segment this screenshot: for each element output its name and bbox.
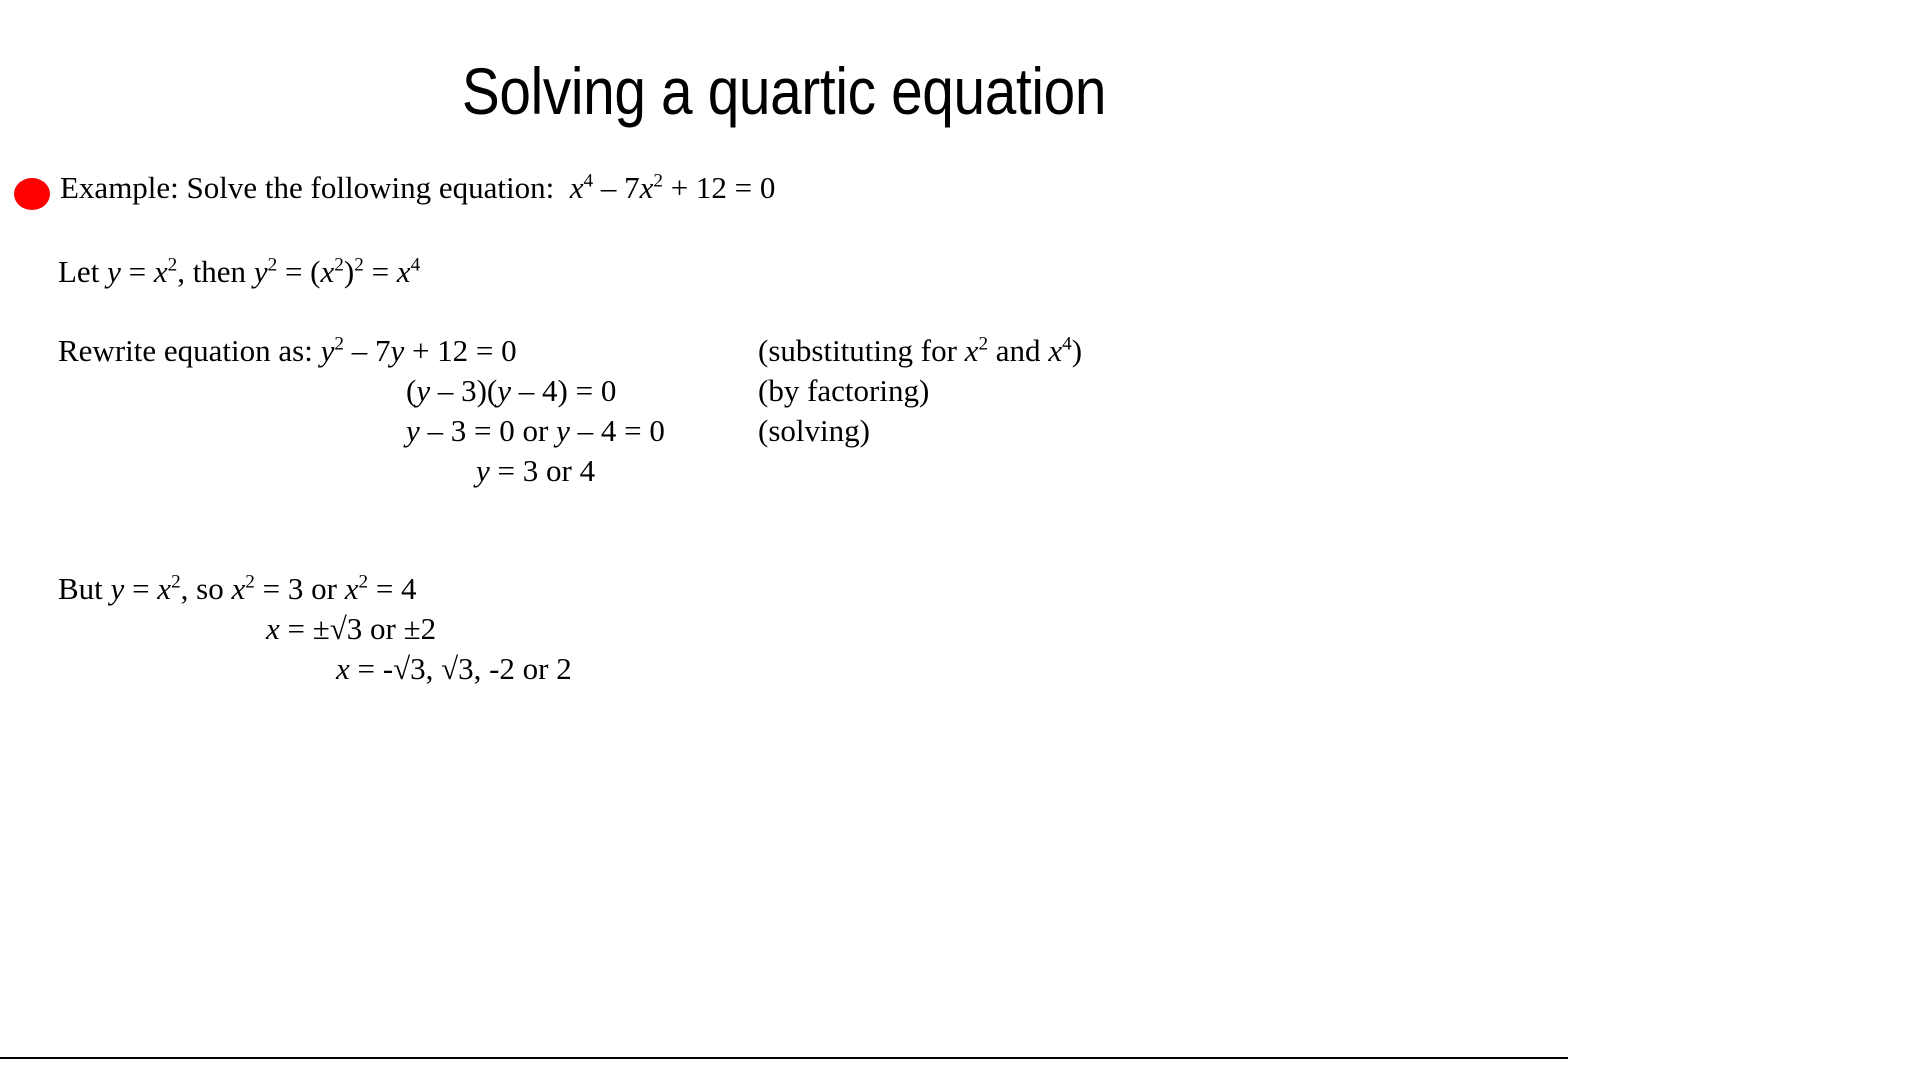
rewrite-exponent-2: 2 <box>334 334 344 355</box>
result-tail: = 3 or 4 <box>490 453 595 488</box>
bullet-circle-icon <box>14 178 50 210</box>
rewrite-line-4-expression: y = 3 or 4 <box>58 451 758 491</box>
but-prefix: But <box>58 571 111 606</box>
let-exponent-1: 2 <box>168 255 178 276</box>
rewrite-block: Rewrite equation as: y2 – 7y + 12 = 0 (s… <box>0 331 1568 491</box>
note-exponent-2: 2 <box>978 334 988 355</box>
bullet-item-text: Example: Solve the following equation: x… <box>60 166 1568 203</box>
let-variable-x2: x <box>321 254 335 289</box>
but-variable-x-2: x <box>232 571 246 606</box>
let-exponent-4: 2 <box>354 255 364 276</box>
equation-operator: – 7 <box>593 170 640 205</box>
solve-mid: – 3 = 0 or <box>420 413 556 448</box>
factor-variable-y-1: y <box>416 373 430 408</box>
but-line-1: But y = x2, so x2 = 3 or x2 = 4 <box>58 569 1568 609</box>
but-equals-2: = 3 or <box>255 571 345 606</box>
note-variable-x: x <box>965 333 979 368</box>
let-equals-1: = <box>121 254 154 289</box>
note-mid: and <box>988 333 1048 368</box>
rewrite-operator: – 7 <box>344 333 391 368</box>
equation-exponent-4: 4 <box>583 171 593 192</box>
let-exponent-2: 2 <box>268 255 278 276</box>
answer-variable-x-2: x <box>336 651 350 686</box>
rewrite-line-1-expression: Rewrite equation as: y2 – 7y + 12 = 0 <box>58 331 758 371</box>
let-mid: , then <box>177 254 254 289</box>
let-variable-y2: y <box>254 254 268 289</box>
but-exponent-1: 2 <box>171 572 181 593</box>
rewrite-line-2-note: (by factoring) <box>758 371 929 411</box>
solve-tail: – 4 = 0 <box>570 413 665 448</box>
equation-exponent-2: 2 <box>653 171 663 192</box>
bullet-list-item: Example: Solve the following equation: x… <box>0 166 1568 214</box>
rewrite-line-3-expression: y – 3 = 0 or y – 4 = 0 <box>58 411 758 451</box>
substitution-statement: Let y = x2, then y2 = (x2)2 = x4 <box>0 252 1568 291</box>
note-suffix: ) <box>1072 333 1082 368</box>
rewrite-variable-y: y <box>321 333 335 368</box>
let-equals-3: = <box>364 254 397 289</box>
let-variable-y: y <box>107 254 121 289</box>
result-variable-y: y <box>476 453 490 488</box>
but-variable-x-1: x <box>157 571 171 606</box>
but-exponent-2: 2 <box>245 572 255 593</box>
factor-mid: – 3)( <box>430 373 497 408</box>
spacer <box>0 214 1568 252</box>
spacer <box>0 291 1568 331</box>
note-prefix: (substituting for <box>758 333 965 368</box>
let-variable-x: x <box>154 254 168 289</box>
let-exponent-5: 4 <box>411 255 421 276</box>
rewrite-line-2-expression: (y – 3)(y – 4) = 0 <box>58 371 758 411</box>
slide-bottom-divider <box>0 1057 1568 1059</box>
rewrite-tail: + 12 = 0 <box>404 333 516 368</box>
let-equals-2: = ( <box>277 254 320 289</box>
but-tail: = 4 <box>368 571 416 606</box>
rewrite-line-1-note: (substituting for x2 and x4) <box>758 331 1082 371</box>
rewrite-line-3: y – 3 = 0 or y – 4 = 0 (solving) <box>58 411 1568 451</box>
back-substitution-block: But y = x2, so x2 = 3 or x2 = 4 x = ±√3 … <box>0 569 1568 689</box>
answer-tail-1: = ±√3 or ±2 <box>280 611 436 646</box>
slide-canvas: Solving a quartic equation Example: Solv… <box>0 0 1920 1080</box>
rewrite-line-4: y = 3 or 4 <box>58 451 1568 491</box>
spacer <box>0 491 1568 531</box>
factor-open-paren: ( <box>406 373 416 408</box>
let-prefix: Let <box>58 254 107 289</box>
slide-body: Example: Solve the following equation: x… <box>0 166 1568 689</box>
but-variable-y: y <box>111 571 125 606</box>
rewrite-line-2: (y – 3)(y – 4) = 0 (by factoring) <box>58 371 1568 411</box>
equation-variable-x: x <box>570 170 584 205</box>
let-variable-x3: x <box>397 254 411 289</box>
spacer <box>0 531 1568 569</box>
slide-title-container: Solving a quartic equation <box>0 58 1568 125</box>
factor-tail: – 4) = 0 <box>511 373 616 408</box>
rewrite-label: Rewrite equation as: <box>58 333 321 368</box>
page-title: Solving a quartic equation <box>110 58 1458 125</box>
note-variable-x2: x <box>1048 333 1062 368</box>
note-exponent-4: 4 <box>1062 334 1072 355</box>
factor-variable-y-2: y <box>497 373 511 408</box>
answer-variable-x-1: x <box>266 611 280 646</box>
equation-variable-x2: x <box>640 170 654 205</box>
but-mid: , so <box>181 571 232 606</box>
but-line-2: x = ±√3 or ±2 <box>58 609 1568 649</box>
let-exponent-3: 2 <box>334 255 344 276</box>
rewrite-line-3-note: (solving) <box>758 411 870 451</box>
but-exponent-3: 2 <box>358 572 368 593</box>
rewrite-variable-y-b: y <box>390 333 404 368</box>
but-variable-x-3: x <box>345 571 359 606</box>
solve-variable-y-2: y <box>556 413 570 448</box>
rewrite-line-1: Rewrite equation as: y2 – 7y + 12 = 0 (s… <box>58 331 1568 371</box>
solve-variable-y-1: y <box>406 413 420 448</box>
but-line-3: x = -√3, √3, -2 or 2 <box>58 649 1568 689</box>
answer-tail-2: = -√3, √3, -2 or 2 <box>350 651 572 686</box>
but-equals-1: = <box>124 571 157 606</box>
equation-tail: + 12 = 0 <box>663 170 775 205</box>
bullet-text-prefix: Example: Solve the following equation: <box>60 170 570 205</box>
let-close-paren: ) <box>344 254 354 289</box>
